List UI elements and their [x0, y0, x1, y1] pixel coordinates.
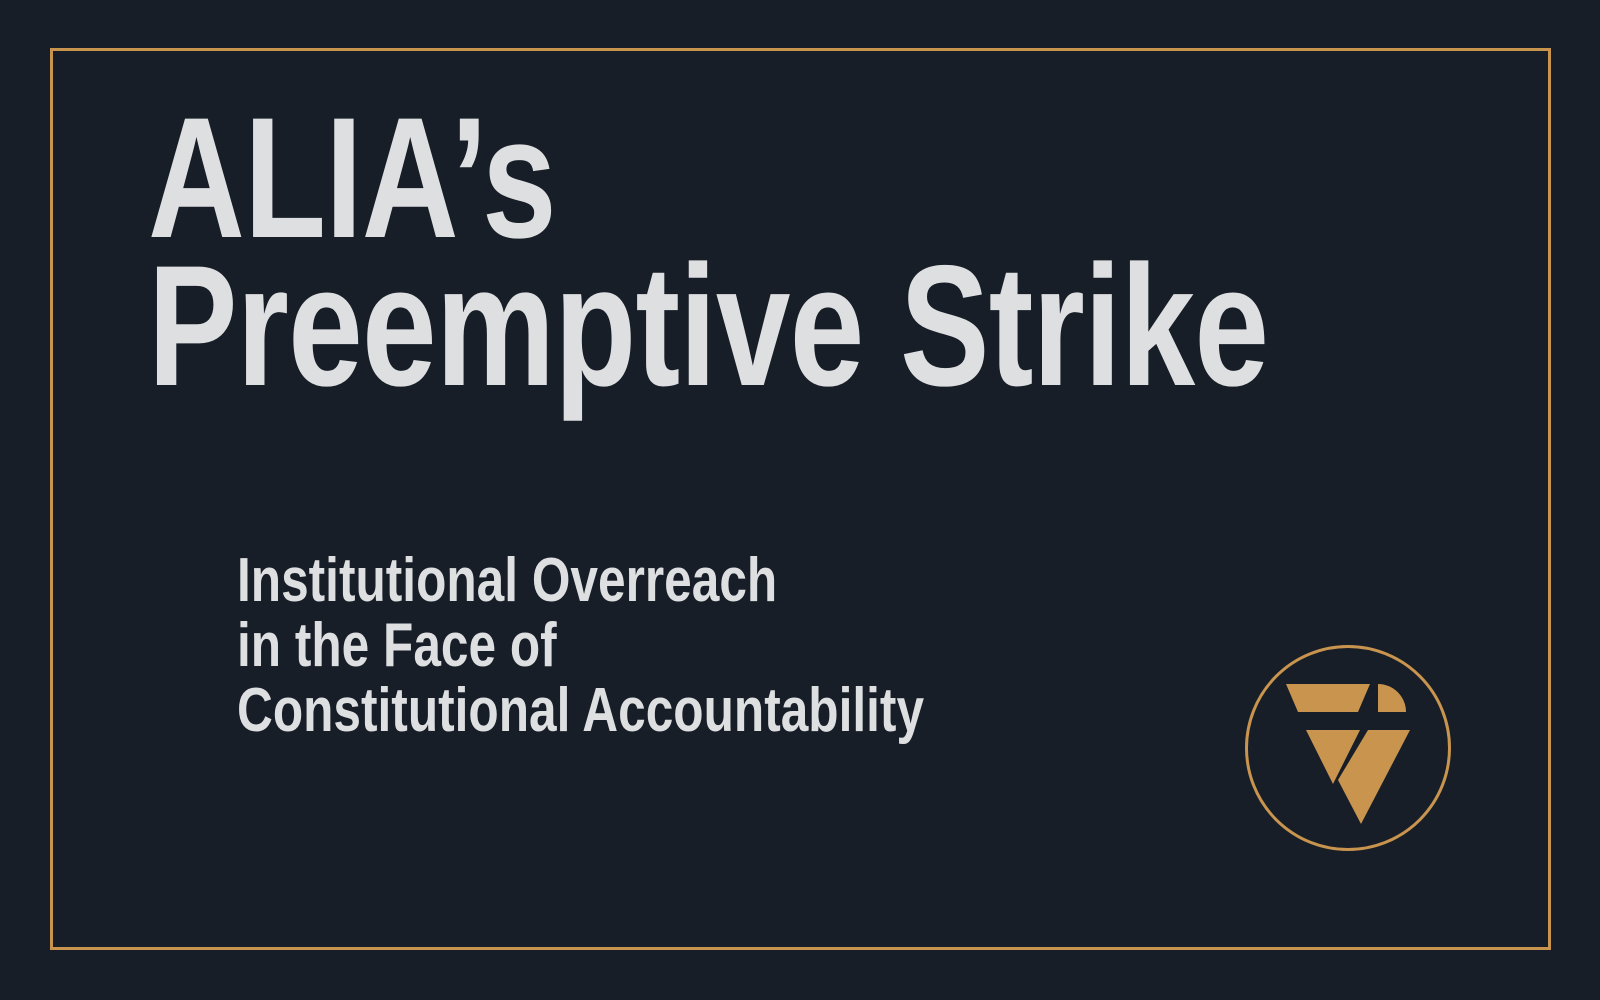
subtitle-line-1: Institutional Overreach [237, 548, 1037, 613]
subtitle-line-2: in the Face of [237, 613, 1037, 678]
title-line-2: Preemptive Strike [148, 252, 1084, 400]
title-slide: ALIA’s Preemptive Strike Institutional O… [0, 0, 1600, 1000]
monogram-icon [1244, 644, 1452, 852]
logo-emblem [1244, 644, 1452, 852]
emblem-top-bar [1286, 684, 1370, 712]
subtitle-line-3: Constitutional Accountability [237, 678, 1037, 743]
page-title: ALIA’s Preemptive Strike [148, 104, 1348, 400]
page-subtitle: Institutional Overreach in the Face of C… [237, 548, 1237, 743]
emblem-quarter-wedge [1378, 684, 1406, 712]
